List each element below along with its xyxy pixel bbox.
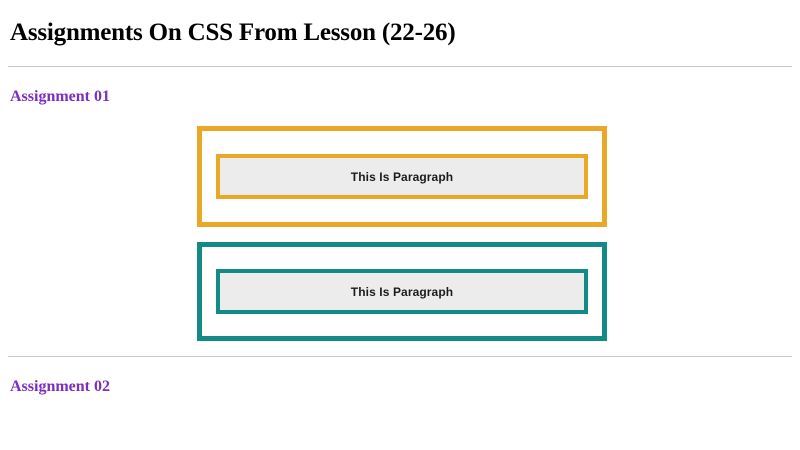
paragraph-box-orange: This Is Paragraph	[216, 154, 588, 199]
paragraph-text-teal: This Is Paragraph	[351, 285, 453, 299]
paragraph-text-orange: This Is Paragraph	[351, 170, 453, 184]
assignment-02-heading: Assignment 02	[8, 357, 792, 395]
outer-box-teal: This Is Paragraph	[197, 242, 607, 341]
paragraph-box-teal: This Is Paragraph	[216, 269, 588, 314]
assignment-01-heading: Assignment 01	[8, 67, 792, 105]
page-root: Assignments On CSS From Lesson (22-26) A…	[0, 0, 800, 450]
outer-box-orange: This Is Paragraph	[197, 126, 607, 227]
page-title: Assignments On CSS From Lesson (22-26)	[8, 0, 792, 45]
assignment-01-boxes: This Is Paragraph This Is Paragraph	[8, 105, 792, 341]
